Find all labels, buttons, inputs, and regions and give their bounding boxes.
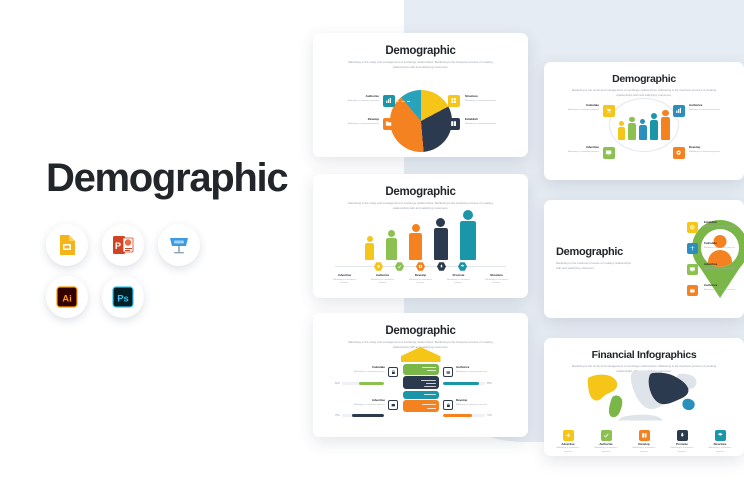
legend-desc: Marketing is a business process xyxy=(456,404,508,407)
legend-desc: Marketing is a business process xyxy=(553,109,599,112)
photoshop-icon[interactable]: Ps xyxy=(102,276,144,318)
legend-label: Develop xyxy=(327,118,379,122)
legend-desc: Marketing is a business process xyxy=(630,447,658,454)
slide-thumbnail-growing-people[interactable]: Demographic Marketing is the study and m… xyxy=(313,174,528,298)
slide-title: Demographic xyxy=(556,246,634,258)
svg-text:Ps: Ps xyxy=(117,294,129,305)
legend-item-establish[interactable]: Establish Marketing is a business proces… xyxy=(704,221,740,229)
legend-item-calculate[interactable]: Calculate Marketing is a business proces… xyxy=(553,104,599,112)
keynote-icon[interactable] xyxy=(158,224,200,266)
growth-item-4[interactable]: Structure Marketing is a business proces… xyxy=(484,274,510,286)
svg-text:Ai: Ai xyxy=(62,294,72,305)
legend-desc: Marketing is a business process xyxy=(704,247,740,250)
legend-desc: Marketing is a business process xyxy=(465,123,517,126)
legend-item-develop[interactable]: Develop Marketing is a business process xyxy=(630,430,658,454)
item-label: Promote xyxy=(446,274,472,278)
legend-desc: Marketing is a business process xyxy=(456,371,508,374)
legend-item-right-0[interactable]: Structure Marketing is a business proces… xyxy=(465,95,517,103)
slide-title: Demographic xyxy=(313,325,528,337)
slide-thumbnail-pie[interactable]: Demographic Marketing is the study and m… xyxy=(313,33,528,157)
illustrator-icon[interactable]: Ai xyxy=(46,276,88,318)
calendar-icon[interactable] xyxy=(687,285,698,296)
svg-text:P: P xyxy=(115,241,121,251)
legend-item-authorize[interactable]: Authorize Marketing is a business proces… xyxy=(689,104,739,112)
slide-heading-block: Demographic Marketing is the business pr… xyxy=(556,246,634,272)
connector-line xyxy=(396,101,410,102)
legend-item-authorize[interactable]: Authorize Marketing is a business proces… xyxy=(592,430,620,454)
legend-item-calculate[interactable]: Calculate Marketing is a business proces… xyxy=(704,242,740,250)
growth-item-1[interactable]: Authorize Marketing is a business proces… xyxy=(370,274,396,286)
check-icon[interactable] xyxy=(601,430,612,441)
monitor-icon[interactable] xyxy=(388,400,398,410)
legend-item-advertise[interactable]: Advertise Marketing is a business proces… xyxy=(554,430,582,454)
legend-label: Calculate xyxy=(553,104,599,108)
legend-desc: Marketing is a business process xyxy=(333,371,385,374)
slide-thumbnail-world-map[interactable]: Financial Infographics Marketing is the … xyxy=(544,338,744,456)
target-icon[interactable] xyxy=(687,222,698,233)
chart-icon[interactable] xyxy=(673,105,685,117)
legend-label: Calculate xyxy=(333,366,385,370)
rocket-icon[interactable] xyxy=(677,430,688,441)
legend-label: Authorize xyxy=(599,443,612,447)
check-icon[interactable] xyxy=(395,262,404,271)
legend-item-advertise[interactable]: Advertise Marketing is a business proces… xyxy=(553,146,599,154)
book-icon[interactable] xyxy=(448,118,460,130)
card-icon[interactable] xyxy=(443,367,453,377)
progress-value: 60% xyxy=(335,382,340,385)
legend-item-left-0[interactable]: Authorize Marketing is a business proces… xyxy=(327,95,379,103)
calculator-icon[interactable] xyxy=(388,367,398,377)
lightbulb-icon[interactable] xyxy=(374,262,383,271)
legend-desc: Marketing is a business process xyxy=(465,100,517,103)
item-label: Structure xyxy=(484,274,510,278)
progress-value: 70% xyxy=(487,414,492,417)
legend-label: Advertise xyxy=(561,443,574,447)
legend-desc: Marketing is a business process xyxy=(592,447,620,454)
growth-labels: Advertise Marketing is a business proces… xyxy=(313,274,528,286)
slide-thumbnail-people-ring[interactable]: Demographic Marketing is the study and m… xyxy=(544,62,744,180)
legend-label: Authorize xyxy=(327,95,379,99)
item-desc: Marketing is a business process xyxy=(408,279,434,286)
map-legend-row: Advertise Marketing is a business proces… xyxy=(544,430,744,454)
google-slides-icon[interactable] xyxy=(46,224,88,266)
slide-subtitle: Marketing is the study and management of… xyxy=(341,60,500,71)
item-label: Develop xyxy=(408,274,434,278)
layers-icon[interactable] xyxy=(458,262,467,271)
legend-item-advertise[interactable]: Advertise Marketing is a business proces… xyxy=(704,263,740,271)
book-icon[interactable] xyxy=(639,430,650,441)
legend-desc: Marketing is a business process xyxy=(689,109,739,112)
slide-subtitle: Marketing is the business process of cre… xyxy=(556,261,634,272)
rocket-icon[interactable] xyxy=(437,262,446,271)
chart-icon[interactable] xyxy=(383,95,395,107)
plus-icon[interactable] xyxy=(563,430,574,441)
legend-desc: Marketing is a business process xyxy=(327,100,379,103)
progress-value: 85% xyxy=(487,382,492,385)
progress-advertise: 75% xyxy=(335,414,384,417)
gear-icon[interactable] xyxy=(416,262,425,271)
legend-item-develop[interactable]: Develop Marketing is a business process xyxy=(456,399,508,407)
legend-label: Advertise xyxy=(553,146,599,150)
growth-item-2[interactable]: Develop Marketing is a business process xyxy=(408,274,434,286)
legend-label: Establish xyxy=(704,221,740,225)
legend-desc: Marketing is a business process xyxy=(704,289,740,292)
item-label: Advertise xyxy=(332,274,358,278)
legend-item-develop[interactable]: Develop Marketing is a business process xyxy=(689,146,739,154)
powerpoint-icon[interactable]: P xyxy=(102,224,144,266)
legend-desc: Marketing is a business process xyxy=(704,226,740,229)
folder-icon[interactable] xyxy=(383,118,395,130)
legend-item-authorize[interactable]: Authorize Marketing is a business proces… xyxy=(704,284,740,292)
app-icon-grid: P Ai Ps xyxy=(46,224,226,318)
progress-calculate: 60% xyxy=(335,382,384,385)
legend-item-structure[interactable]: Structure Marketing is a business proces… xyxy=(706,430,734,454)
legend-desc: Marketing is a business process xyxy=(327,123,379,126)
scale-icon[interactable] xyxy=(687,243,698,254)
hex-icon-row xyxy=(313,262,528,271)
legend-label: Structure xyxy=(714,443,727,447)
legend-desc: Marketing is a business process xyxy=(689,151,739,154)
legend-label: Structure xyxy=(465,95,517,99)
legend-desc: Marketing is a business process xyxy=(668,447,696,454)
progress-value: 75% xyxy=(335,414,340,417)
slide-thumbnail-map-pin[interactable]: Demographic Marketing is the business pr… xyxy=(544,200,744,318)
item-desc: Marketing is a business process xyxy=(446,279,472,286)
slide-title: Financial Infographics xyxy=(544,349,744,361)
legend-item-left-1[interactable]: Develop Marketing is a business process xyxy=(327,118,379,126)
item-label: Authorize xyxy=(370,274,396,278)
monitor-icon[interactable] xyxy=(603,147,615,159)
legend-desc: Marketing is a business process xyxy=(333,404,385,407)
funnel-chart xyxy=(401,347,441,412)
slide-title: Demographic xyxy=(544,73,744,85)
growth-item-0[interactable]: Advertise Marketing is a business proces… xyxy=(332,274,358,286)
bag-icon[interactable] xyxy=(443,400,453,410)
legend-label: Authorize xyxy=(689,104,739,108)
funnel-arrow xyxy=(401,347,441,362)
people-group xyxy=(618,110,670,140)
legend-item-advertise[interactable]: Advertise Marketing is a business proces… xyxy=(333,399,385,407)
slide-title: Demographic xyxy=(313,186,528,198)
legend-desc: Marketing is a business process xyxy=(704,268,740,271)
legend-item-calculate[interactable]: Calculate Marketing is a business proces… xyxy=(333,366,385,374)
legend-item-right-1[interactable]: Establish Marketing is a business proces… xyxy=(465,118,517,126)
legend-desc: Marketing is a business process xyxy=(706,447,734,454)
grid-icon[interactable] xyxy=(448,95,460,107)
item-desc: Marketing is a business process xyxy=(332,279,358,286)
legend-label: Calculate xyxy=(704,242,740,246)
legend-label: Develop xyxy=(689,146,739,150)
legend-item-promote[interactable]: Promote Marketing is a business process xyxy=(668,430,696,454)
legend-label: Promote xyxy=(676,443,688,447)
item-desc: Marketing is a business process xyxy=(370,279,396,286)
legend-label: Advertise xyxy=(704,263,740,267)
legend-label: Develop xyxy=(638,443,649,447)
progress-develop: 70% xyxy=(443,414,492,417)
legend-label: Authorize xyxy=(704,284,740,288)
cart-icon[interactable] xyxy=(603,105,615,117)
legend-desc: Marketing is a business process xyxy=(553,151,599,154)
gear-icon[interactable] xyxy=(673,147,685,159)
legend-label: Advertise xyxy=(333,399,385,403)
slide-title: Demographic xyxy=(313,45,528,57)
layers-icon[interactable] xyxy=(715,430,726,441)
legend-desc: Marketing is a business process xyxy=(554,447,582,454)
slide-thumbnail-funnel[interactable]: Demographic Marketing is the study and m… xyxy=(313,313,528,437)
monitor-icon[interactable] xyxy=(687,264,698,275)
legend-label: Authorize xyxy=(456,366,508,370)
legend-item-authorize[interactable]: Authorize Marketing is a business proces… xyxy=(456,366,508,374)
item-desc: Marketing is a business process xyxy=(484,279,510,286)
growth-item-3[interactable]: Promote Marketing is a business process xyxy=(446,274,472,286)
people-growth-chart xyxy=(313,210,528,260)
progress-authorize: 85% xyxy=(443,382,492,385)
pie-chart xyxy=(390,90,452,152)
world-map xyxy=(579,368,709,424)
legend-label: Establish xyxy=(465,118,517,122)
legend-label: Develop xyxy=(456,399,508,403)
